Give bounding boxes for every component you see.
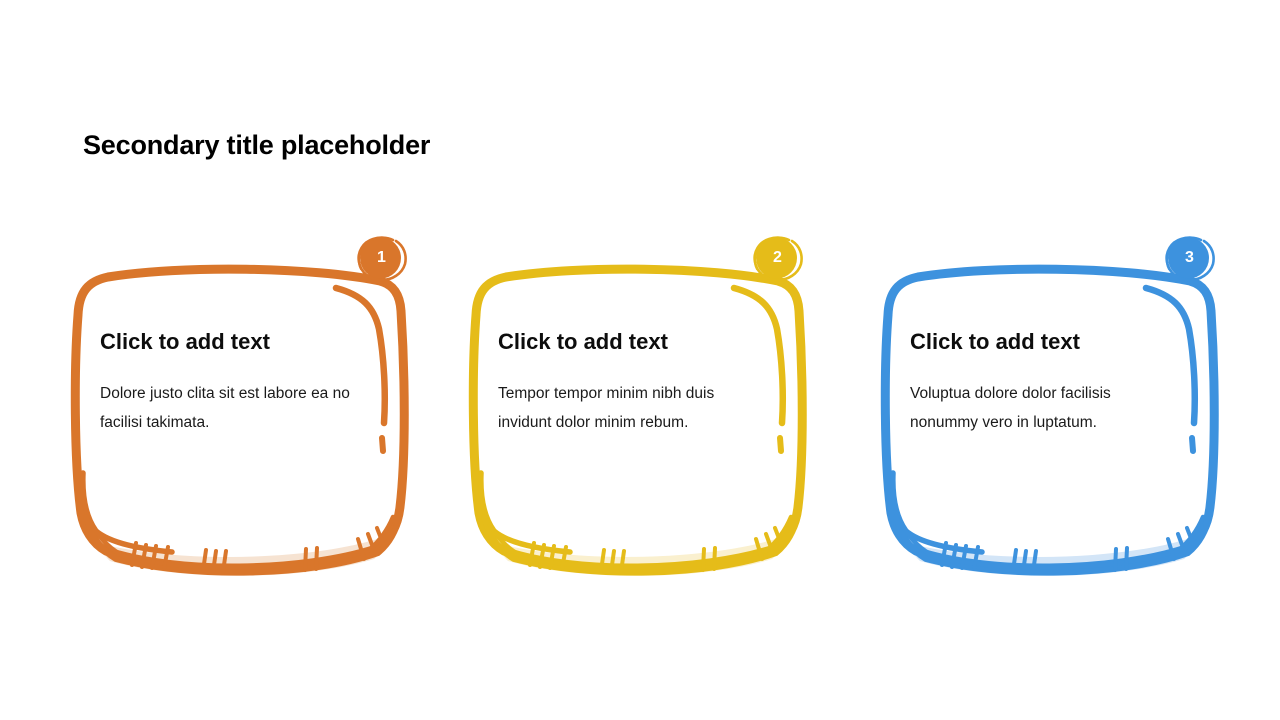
card-row: Click to add text Dolore justo clita sit… [0,225,1280,585]
card-2-text-block: Click to add text Tempor tempor minim ni… [498,329,756,438]
card-2-heading[interactable]: Click to add text [498,329,756,354]
card-1-badge[interactable]: 1 [352,228,410,286]
page-title: Secondary title placeholder [83,130,430,161]
card-2[interactable]: Click to add text Tempor tempor minim ni… [460,225,810,580]
card-outline-dash-right [780,438,781,451]
badge-circle-3 [1160,228,1218,286]
card-2-body[interactable]: Tempor tempor minim nibh duis invidunt d… [498,380,756,437]
card-3[interactable]: Click to add text Voluptua dolore dolor … [872,225,1222,580]
slide-canvas: Secondary title placeholder [0,0,1280,720]
badge-circle-2 [748,228,806,286]
card-2-badge[interactable]: 2 [748,228,806,286]
card-1-text-block: Click to add text Dolore justo clita sit… [100,329,358,438]
card-3-badge[interactable]: 3 [1160,228,1218,286]
badge-circle-1 [352,228,410,286]
card-1[interactable]: Click to add text Dolore justo clita sit… [62,225,412,580]
card-1-body[interactable]: Dolore justo clita sit est labore ea no … [100,380,358,437]
card-outline-dash-right [1192,438,1193,451]
card-3-text-block: Click to add text Voluptua dolore dolor … [910,329,1168,438]
card-1-heading[interactable]: Click to add text [100,329,358,354]
card-3-heading[interactable]: Click to add text [910,329,1168,354]
card-outline-dash-right [382,438,383,451]
card-3-body[interactable]: Voluptua dolore dolor facilisis nonummy … [910,380,1168,437]
